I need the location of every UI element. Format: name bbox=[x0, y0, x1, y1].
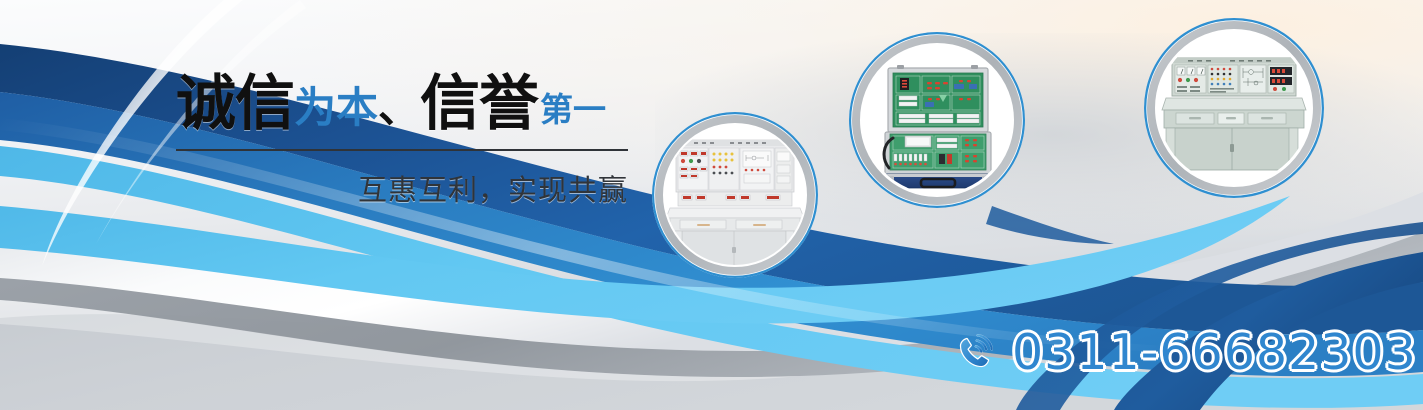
headline-part-2: 为本 bbox=[294, 87, 378, 129]
product-image-electrical-machinery-test-bench bbox=[1144, 18, 1324, 198]
headline-part-5: 第一 bbox=[540, 93, 606, 126]
subtitle: 互惠互利，实现共赢 bbox=[176, 167, 628, 209]
headline-part-3: 、 bbox=[378, 87, 420, 129]
promotional-banner: 诚信 为本 、 信誉 第一 互惠互利，实现共赢 bbox=[0, 0, 1423, 410]
product-circle-2 bbox=[849, 32, 1025, 208]
headline-part-4: 信誉 bbox=[420, 74, 538, 134]
contact-phone-block[interactable]: 0311-66682303 bbox=[952, 324, 1417, 381]
headline-block: 诚信 为本 、 信誉 第一 互惠互利，实现共赢 bbox=[176, 74, 628, 209]
headline-part-1: 诚信 bbox=[176, 74, 294, 134]
product-circle-3 bbox=[1144, 18, 1324, 198]
headline: 诚信 为本 、 信誉 第一 bbox=[176, 74, 628, 140]
headline-divider bbox=[176, 149, 628, 151]
product-circle-1 bbox=[652, 112, 818, 278]
phone-number[interactable]: 0311-66682303 bbox=[1012, 324, 1417, 381]
product-image-portable-electronics-training-case bbox=[849, 32, 1025, 208]
phone-call-icon[interactable] bbox=[952, 330, 998, 376]
product-image-electrical-training-workbench bbox=[652, 112, 818, 278]
